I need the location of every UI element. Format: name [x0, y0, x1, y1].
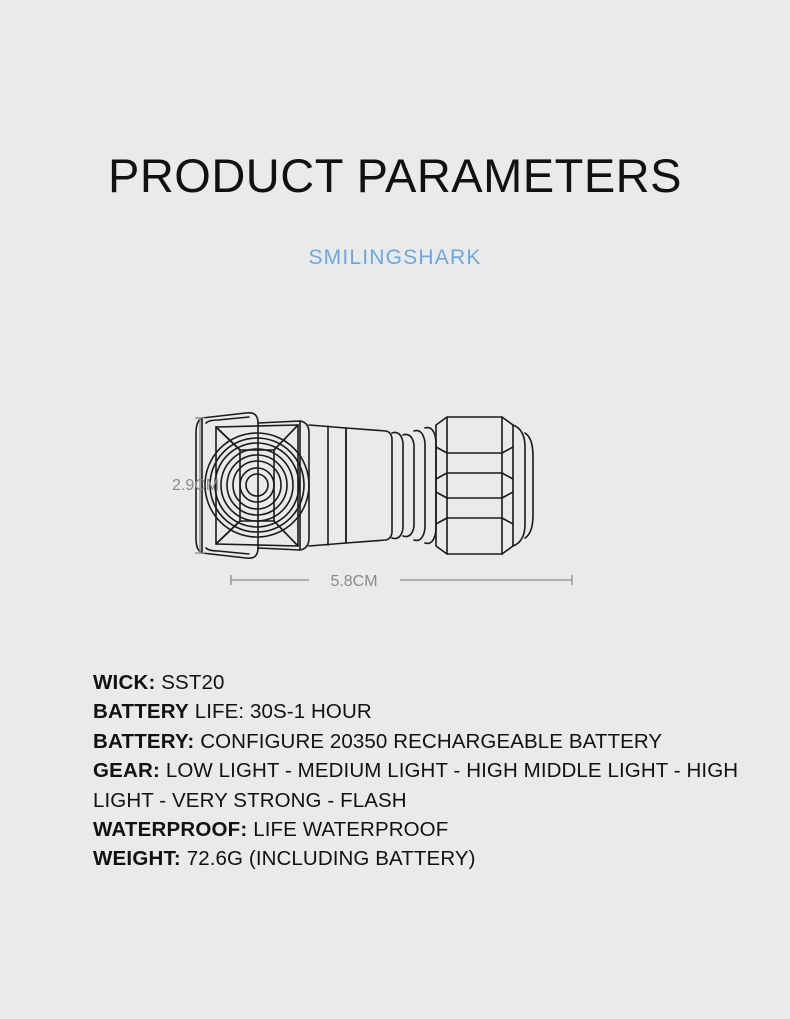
spec-label: WICK: — [93, 671, 155, 694]
spec-row-gear: GEAR: LOW LIGHT - MEDIUM LIGHT - HIGH MI… — [93, 756, 783, 815]
spec-value: 72.6G (INCLUDING BATTERY) — [187, 847, 476, 870]
spec-row-wick: WICK: SST20 — [93, 668, 783, 697]
brand-subtitle: SMILINGSHARK — [0, 247, 790, 268]
width-label: 5.8CM — [330, 573, 377, 590]
height-label: 2.9CM — [172, 477, 219, 494]
spec-row-weight: WEIGHT: 72.6G (INCLUDING BATTERY) — [93, 844, 783, 873]
spec-value: LIFE: 30S-1 HOUR — [195, 700, 372, 723]
spec-value: LIFE WATERPROOF — [253, 818, 448, 841]
spec-value: LOW LIGHT - MEDIUM LIGHT - HIGH MIDDLE L… — [93, 759, 738, 811]
spec-label: GEAR: — [93, 759, 160, 782]
reflector-rings — [205, 433, 309, 537]
spec-label: WEIGHT: — [93, 847, 181, 870]
spec-list: WICK: SST20 BATTERY LIFE: 30S-1 HOUR BAT… — [93, 668, 783, 874]
page-title: PRODUCT PARAMETERS — [0, 152, 790, 199]
spec-label: BATTERY — [93, 700, 189, 723]
tail-cap — [436, 417, 533, 554]
spec-value: CONFIGURE 20350 RECHARGEABLE BATTERY — [200, 730, 662, 753]
tail-rings — [392, 428, 436, 544]
spec-row-waterproof: WATERPROOF: LIFE WATERPROOF — [93, 815, 783, 844]
spec-row-battery-life: BATTERY LIFE: 30S-1 HOUR — [93, 697, 783, 726]
spec-value: SST20 — [161, 671, 224, 694]
product-figure: 2.9CM 5.8CM — [150, 395, 620, 605]
flashlight-outline — [196, 413, 533, 558]
spec-label: BATTERY: — [93, 730, 194, 753]
spec-row-battery: BATTERY: CONFIGURE 20350 RECHARGEABLE BA… — [93, 727, 783, 756]
spec-label: WATERPROOF: — [93, 818, 247, 841]
